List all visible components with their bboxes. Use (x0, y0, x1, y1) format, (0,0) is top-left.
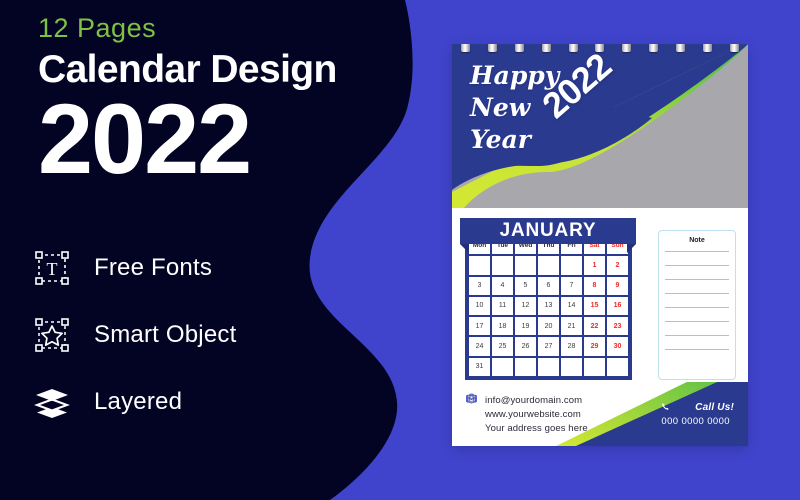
day-cell[interactable]: 5 (515, 277, 536, 295)
call-us-number: 000 0000 0000 (661, 416, 730, 427)
day-cell[interactable]: 20 (538, 317, 559, 335)
feature-list: T Free Fonts Smart Object (32, 243, 362, 444)
spiral-ring-icon (649, 44, 658, 52)
greeting-line-3: Year (470, 124, 559, 156)
spiral-ring-icon (622, 44, 631, 52)
day-cell[interactable]: 7 (561, 277, 582, 295)
spiral-ring-icon (515, 44, 524, 52)
contact-row-address[interactable]: Your address goes here (466, 421, 588, 435)
calendar-mockup: Happy New Year 2022 JANUARY MonTueWedThu… (452, 44, 748, 446)
day-cell-empty (492, 256, 513, 274)
call-us-label: Call Us! (661, 402, 734, 413)
spiral-binding (452, 44, 748, 52)
day-cell[interactable]: 1 (584, 256, 605, 274)
month-ribbon: JANUARY (460, 218, 636, 244)
day-cell-empty (469, 256, 490, 274)
day-cell[interactable]: 13 (538, 297, 559, 315)
day-cell[interactable]: 9 (607, 277, 628, 295)
note-line (665, 293, 729, 294)
feature-item-smart-object: Smart Object (32, 310, 362, 360)
day-cell[interactable]: 6 (538, 277, 559, 295)
note-line (665, 349, 729, 350)
spiral-ring-icon (461, 44, 470, 52)
call-us-number-row[interactable]: 000 0000 0000 (661, 416, 734, 427)
layers-icon (32, 382, 72, 422)
contact-list: info@yourdomain.com www.yourwebsite.com (466, 393, 588, 435)
calendar-footer: info@yourdomain.com www.yourwebsite.com (452, 382, 748, 446)
day-cell[interactable]: 27 (538, 337, 559, 355)
call-us-block: Call Us! 000 0000 0000 (661, 402, 734, 427)
smart-object-star-icon (32, 315, 72, 355)
day-cell[interactable]: 31 (469, 358, 490, 376)
day-cell[interactable]: 14 (561, 297, 582, 315)
feature-item-layered: Layered (32, 377, 362, 427)
day-cell[interactable]: 25 (492, 337, 513, 355)
day-cell[interactable]: 26 (515, 337, 536, 355)
feature-item-free-fonts: T Free Fonts (32, 243, 362, 293)
day-cell[interactable]: 12 (515, 297, 536, 315)
text-frame-icon: T (32, 248, 72, 288)
feature-label: Layered (94, 388, 182, 416)
day-cell-empty (538, 358, 559, 376)
day-cell[interactable]: 8 (584, 277, 605, 295)
contact-text: info@yourdomain.com (485, 395, 582, 406)
month-label: JANUARY (500, 220, 597, 242)
day-cell[interactable]: 29 (584, 337, 605, 355)
spiral-ring-icon (488, 44, 497, 52)
globe-icon (466, 408, 479, 421)
day-cell-empty (515, 358, 536, 376)
spiral-ring-icon (542, 44, 551, 52)
day-cell[interactable]: 16 (607, 297, 628, 315)
note-line (665, 279, 729, 280)
calendar-hero-panel: Happy New Year 2022 (452, 44, 748, 208)
svg-text:T: T (47, 259, 58, 279)
day-cell-empty (538, 256, 559, 274)
calendar-body: JANUARY MonTueWedThuFriSatSun12345678910… (452, 208, 748, 446)
feature-label: Smart Object (94, 321, 236, 349)
spiral-ring-icon (730, 44, 739, 52)
day-cell[interactable]: 2 (607, 256, 628, 274)
day-cell[interactable]: 3 (469, 277, 490, 295)
contact-row-email[interactable]: info@yourdomain.com (466, 393, 588, 407)
note-title: Note (665, 237, 729, 244)
spiral-ring-icon (595, 44, 604, 52)
day-cell[interactable]: 28 (561, 337, 582, 355)
promo-block: 12 Pages Calendar Design 2022 (38, 14, 418, 188)
day-cell-empty (561, 358, 582, 376)
note-line (665, 321, 729, 322)
note-line (665, 335, 729, 336)
day-cell[interactable]: 19 (515, 317, 536, 335)
promo-year: 2022 (38, 89, 418, 188)
day-cell-empty (561, 256, 582, 274)
day-cell[interactable]: 10 (469, 297, 490, 315)
day-cell[interactable]: 17 (469, 317, 490, 335)
note-line (665, 307, 729, 308)
contact-text: Your address goes here (485, 423, 588, 434)
spiral-ring-icon (569, 44, 578, 52)
note-pad[interactable]: Note (658, 230, 736, 380)
contact-text: www.yourwebsite.com (485, 409, 581, 420)
location-pin-icon (466, 422, 479, 435)
day-cell-empty (584, 358, 605, 376)
note-line (665, 265, 729, 266)
day-cell[interactable]: 4 (492, 277, 513, 295)
poster-canvas: 12 Pages Calendar Design 2022 T Free Fon… (0, 0, 800, 500)
spiral-ring-icon (676, 44, 685, 52)
day-cell-empty (492, 358, 513, 376)
day-cell[interactable]: 18 (492, 317, 513, 335)
note-line (665, 251, 729, 252)
day-cell[interactable]: 23 (607, 317, 628, 335)
calendar-grid: MonTueWedThuFriSatSun1234567891011121314… (465, 232, 632, 380)
day-cell[interactable]: 15 (584, 297, 605, 315)
day-cell[interactable]: 22 (584, 317, 605, 335)
feature-label: Free Fonts (94, 254, 212, 282)
promo-pages-label: 12 Pages (38, 14, 418, 44)
day-cell[interactable]: 11 (492, 297, 513, 315)
contact-row-website[interactable]: www.yourwebsite.com (466, 407, 588, 421)
day-cell-empty (607, 358, 628, 376)
spiral-ring-icon (703, 44, 712, 52)
day-cell[interactable]: 30 (607, 337, 628, 355)
day-cell[interactable]: 21 (561, 317, 582, 335)
day-cell[interactable]: 24 (469, 337, 490, 355)
day-cell-empty (515, 256, 536, 274)
